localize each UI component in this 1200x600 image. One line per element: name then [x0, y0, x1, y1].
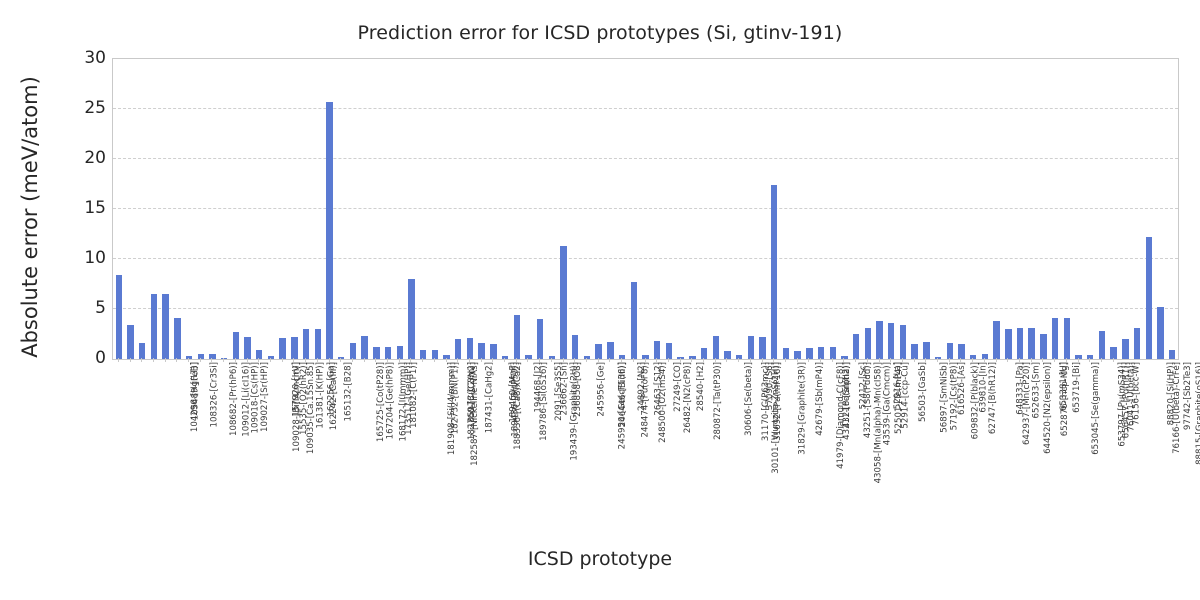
bar[interactable] [748, 336, 754, 359]
x-tick-label: 109027-[Sr(HP)] [261, 362, 270, 432]
bar[interactable] [1134, 328, 1140, 359]
x-tick-mark [1101, 358, 1102, 362]
bar[interactable] [993, 321, 999, 359]
x-tick-label: 246446-[Bi(III)] [619, 362, 628, 427]
x-tick-mark [247, 358, 248, 362]
x-tick-label: 236858-[O8] [574, 362, 583, 417]
x-tick-label: 245956-[Ge] [597, 362, 606, 417]
x-tick-label: 653719-[Bi] [1073, 362, 1082, 413]
x-tick-mark [738, 358, 739, 362]
x-tick-label: 109018-[Cs(HP)] [251, 362, 260, 433]
bar[interactable] [888, 323, 894, 359]
x-axis-label: ICSD prototype [0, 548, 1200, 570]
x-tick-label: 62747-[B(hR12)] [989, 362, 998, 434]
bar[interactable] [478, 343, 484, 359]
x-tick-mark [399, 358, 400, 362]
bar[interactable] [560, 246, 566, 359]
x-tick-mark [188, 358, 189, 362]
bar[interactable] [1099, 331, 1105, 359]
y-tick-label: 20 [36, 148, 106, 168]
x-tick-label: 52412-[Sc] [859, 362, 868, 409]
x-tick-mark [984, 358, 985, 362]
x-tick-mark [293, 358, 294, 362]
x-tick-mark [680, 358, 681, 362]
x-tick-mark [200, 358, 201, 362]
x-tick-mark [516, 358, 517, 362]
x-tick-mark [1089, 358, 1090, 362]
x-tick-mark [1042, 358, 1043, 362]
x-tick-mark [469, 358, 470, 362]
y-tick-label: 25 [36, 98, 106, 118]
x-tick-label: 37090-[S6] [766, 362, 775, 410]
bar[interactable] [139, 343, 145, 359]
x-tick-mark [808, 358, 809, 362]
bar[interactable] [1040, 334, 1046, 359]
x-tick-label: 189460-[MnP] [510, 362, 519, 423]
y-tick-label: 5 [36, 298, 106, 318]
x-tick-label: 161381-[K(HP)] [317, 362, 326, 429]
x-tick-label: 88820-[Si(HP)] [1168, 362, 1177, 425]
bar[interactable] [174, 318, 180, 359]
bar[interactable] [900, 325, 906, 359]
x-tick-mark [586, 358, 587, 362]
x-tick-label: 30606-[Se(beta)] [745, 362, 754, 436]
bar[interactable] [572, 335, 578, 359]
bar[interactable] [1052, 318, 1058, 359]
bar[interactable] [1064, 318, 1070, 359]
x-tick-mark [832, 358, 833, 362]
x-tick-mark [1113, 358, 1114, 362]
x-tick-label: 56503-[GaSb] [919, 362, 928, 422]
bar[interactable] [1028, 328, 1034, 359]
x-tick-mark [481, 358, 482, 362]
bar[interactable] [1005, 329, 1011, 359]
x-tick-label: 108326-[Cr3Si] [210, 362, 219, 427]
x-tick-mark [282, 358, 283, 362]
x-tick-label: 27249-[CO] [674, 362, 683, 412]
x-tick-mark [329, 358, 330, 362]
bar[interactable] [233, 332, 239, 359]
x-tick-mark [820, 358, 821, 362]
x-tick-mark [890, 358, 891, 362]
bar[interactable] [326, 102, 332, 359]
x-tick-mark [750, 358, 751, 362]
x-tick-mark [434, 358, 435, 362]
chart-figure: Prediction error for ICSD prototypes (Si… [0, 0, 1200, 600]
x-tick-mark [130, 358, 131, 362]
bar[interactable] [350, 343, 356, 359]
y-tick-label: 30 [36, 48, 106, 68]
x-tick-mark [703, 358, 704, 362]
x-tick-mark [598, 358, 599, 362]
x-tick-label: 157920-[IrV] [293, 362, 302, 417]
x-tick-mark [1019, 358, 1020, 362]
chart-title: Prediction error for ICSD prototypes (Si… [0, 22, 1200, 44]
x-tick-label: 42679-[Sb(mP4)] [815, 362, 824, 436]
bar[interactable] [490, 344, 496, 359]
x-tick-mark [773, 358, 774, 362]
bar[interactable] [116, 275, 122, 359]
x-tick-mark [504, 358, 505, 362]
x-tick-label: 76156-[bcc-W] [1133, 362, 1142, 425]
x-tick-label: 31829-[Graphite(3R)] [799, 362, 808, 455]
bar[interactable] [958, 344, 964, 359]
x-tick-mark [141, 358, 142, 362]
x-tick-label: 105489-[FeB] [191, 362, 200, 420]
bar[interactable] [607, 342, 613, 359]
x-tick-label: 648333-[Pa] [1017, 362, 1026, 415]
bar-series [113, 59, 1178, 359]
x-tick-mark [574, 358, 575, 362]
x-tick-mark [387, 358, 388, 362]
bar[interactable] [771, 185, 777, 359]
y-tick-label: 10 [36, 248, 106, 268]
x-tick-label: 97742-[Sb2Te3] [1184, 362, 1193, 430]
x-tick-label: 182732-[BN(P1)] [451, 362, 460, 434]
bar[interactable] [666, 343, 672, 359]
x-tick-mark [1066, 358, 1067, 362]
x-tick-mark [621, 358, 622, 362]
bar[interactable] [151, 294, 157, 359]
x-tick-mark [656, 358, 657, 362]
x-tick-mark [422, 358, 423, 362]
x-tick-mark [1031, 358, 1032, 362]
bar[interactable] [631, 282, 637, 359]
x-tick-mark [914, 358, 915, 362]
x-tick-mark [633, 358, 634, 362]
x-tick-mark [785, 358, 786, 362]
x-tick-mark [691, 358, 692, 362]
x-tick-mark [305, 358, 306, 362]
bar[interactable] [361, 336, 367, 359]
x-tick-label: 165132-[B28] [345, 362, 354, 421]
x-tick-mark [446, 358, 447, 362]
plot-area [112, 58, 1179, 360]
y-tick-label: 0 [36, 348, 106, 368]
x-tick-mark [375, 358, 376, 362]
x-tick-label: 43216-[Sn(tI2)] [843, 362, 852, 428]
y-tick-label: 15 [36, 198, 106, 218]
x-tick-mark [223, 358, 224, 362]
x-tick-mark [949, 358, 950, 362]
bar[interactable] [537, 319, 543, 359]
bar[interactable] [455, 339, 461, 359]
x-tick-mark [317, 358, 318, 362]
bar[interactable] [127, 325, 133, 359]
bar[interactable] [876, 321, 882, 359]
x-tick-mark [609, 358, 610, 362]
bar[interactable] [279, 338, 285, 359]
x-tick-mark [410, 358, 411, 362]
bar[interactable] [1122, 339, 1128, 359]
x-tick-mark [843, 358, 844, 362]
x-tick-mark [855, 358, 856, 362]
x-tick-mark [797, 358, 798, 362]
x-tick-label: 88815-[Graphite(oS16)] [1196, 362, 1200, 465]
x-tick-mark [270, 358, 271, 362]
x-tick-mark [165, 358, 166, 362]
x-tick-label: 108682-[Pr(hP6)] [230, 362, 239, 436]
x-tick-mark [153, 358, 154, 362]
x-tick-label: 185973-[C3N2] [468, 362, 477, 428]
bar[interactable] [1157, 307, 1163, 359]
x-tick-label: 644520-[N2(epsilon)] [1044, 362, 1053, 454]
x-tick-mark [352, 358, 353, 362]
x-tick-mark [902, 358, 903, 362]
x-tick-mark [960, 358, 961, 362]
bar[interactable] [619, 355, 625, 359]
x-tick-mark [563, 358, 564, 362]
x-tick-label: 43539-[Ga(Cmcm)] [883, 362, 892, 445]
bar[interactable] [923, 342, 929, 359]
bar[interactable] [853, 334, 859, 359]
bar[interactable] [1169, 350, 1175, 359]
bar[interactable] [244, 337, 250, 359]
x-tick-mark [176, 358, 177, 362]
x-tick-label: 187431-[CaHg2] [485, 362, 494, 433]
x-tick-mark [340, 358, 341, 362]
bar[interactable] [713, 336, 719, 359]
x-tick-mark [879, 358, 880, 362]
x-tick-mark [364, 358, 365, 362]
x-axis-ticks: 104296-[Hg(LT)]105489-[FeB]108326-[Cr3Si… [112, 362, 1179, 542]
x-tick-label: 52916-[La] [894, 362, 903, 409]
x-tick-label: 181082-[C(P1)] [410, 362, 419, 428]
x-tick-label: 24892-[N2] [638, 362, 647, 411]
bar[interactable] [291, 337, 297, 359]
bar[interactable] [911, 344, 917, 359]
bar[interactable] [1146, 237, 1152, 359]
x-tick-mark [258, 358, 259, 362]
x-tick-mark [539, 358, 540, 362]
x-tick-label: 165725-[Co(tP28)] [377, 362, 386, 442]
x-tick-mark [492, 358, 493, 362]
x-tick-label: 653045-[Se(gamma)] [1092, 362, 1101, 455]
x-tick-label: 162256-[Ga] [328, 362, 337, 417]
bar[interactable] [947, 343, 953, 359]
x-tick-label: 616526-[As] [958, 362, 967, 415]
x-tick-label: 236662-[Sn] [561, 362, 570, 416]
bar[interactable] [759, 337, 765, 359]
x-tick-label: 653381-[U] [1060, 362, 1069, 411]
x-tick-label: 167204-[Ge(hP8)] [386, 362, 395, 439]
x-tick-mark [937, 358, 938, 362]
x-tick-label: 639810-[In] [979, 362, 988, 413]
bar[interactable] [865, 328, 871, 359]
bar[interactable] [408, 279, 414, 359]
x-tick-label: 652633-[Sm] [1032, 362, 1041, 418]
x-tick-mark [668, 358, 669, 362]
x-tick-mark [996, 358, 997, 362]
bar[interactable] [595, 344, 601, 359]
x-tick-mark [972, 358, 973, 362]
x-tick-label: 56897-[SmNiSb] [941, 362, 950, 433]
x-tick-label: 280872-[Ta(tP30)] [714, 362, 723, 440]
bar[interactable] [514, 315, 520, 359]
x-tick-mark [645, 358, 646, 362]
bar[interactable] [467, 338, 473, 359]
x-tick-mark [527, 358, 528, 362]
x-tick-mark [726, 358, 727, 362]
x-tick-label: 26463-[S12] [655, 362, 664, 416]
x-tick-mark [715, 358, 716, 362]
x-tick-mark [235, 358, 236, 362]
x-tick-mark [762, 358, 763, 362]
x-tick-label: 194468-[I2] [535, 362, 544, 413]
x-tick-mark [1007, 358, 1008, 362]
x-tick-mark [867, 358, 868, 362]
bar[interactable] [315, 329, 321, 359]
bar[interactable] [303, 329, 309, 359]
bar[interactable] [162, 294, 168, 359]
x-tick-mark [1054, 358, 1055, 362]
x-tick-mark [925, 358, 926, 362]
x-tick-mark [1078, 358, 1079, 362]
x-tick-mark [118, 358, 119, 362]
x-tick-label: 26482-[N2(cP8)] [684, 362, 693, 433]
x-tick-mark [551, 358, 552, 362]
x-tick-label: 28540-[H2] [697, 362, 706, 411]
bar[interactable] [654, 341, 660, 359]
x-tick-mark [211, 358, 212, 362]
bar[interactable] [1017, 328, 1023, 359]
x-tick-mark [457, 358, 458, 362]
